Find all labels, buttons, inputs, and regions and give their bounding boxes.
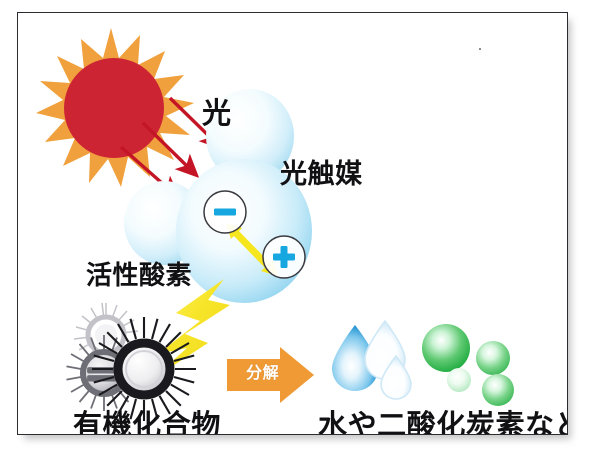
label-light: 光 — [202, 99, 232, 128]
water-drops-group — [332, 321, 411, 399]
diagram-artwork — [18, 13, 567, 434]
label-reactive-oxygen: 活性酸素 — [86, 263, 192, 289]
diagram-root: 光 光触媒 活性酸素 有機化合物 水や二酸化炭素など 分解 — [0, 0, 605, 460]
co2-sphere-large — [422, 324, 470, 372]
diagram-panel: 光 光触媒 活性酸素 有機化合物 水や二酸化炭素など 分解 — [17, 12, 568, 435]
label-photocatalyst: 光触媒 — [280, 161, 363, 188]
sun-core — [64, 58, 164, 158]
label-decompose: 分解 — [246, 365, 279, 381]
negative-charge-badge — [204, 191, 246, 233]
positive-charge-badge — [263, 236, 305, 278]
co2-sphere-small — [447, 368, 471, 392]
sun-icon — [36, 28, 194, 187]
co2-sphere-medium — [476, 341, 510, 375]
co2-spheres-group — [422, 324, 514, 406]
scan-speck — [479, 48, 481, 50]
diagram-canvas: 光 光触媒 活性酸素 有機化合物 水や二酸化炭素など 分解 — [18, 13, 567, 434]
co2-sphere-medium2 — [482, 374, 514, 406]
label-organic-compound: 有機化合物 — [73, 411, 221, 434]
label-products: 水や二酸化炭素など — [318, 411, 567, 434]
